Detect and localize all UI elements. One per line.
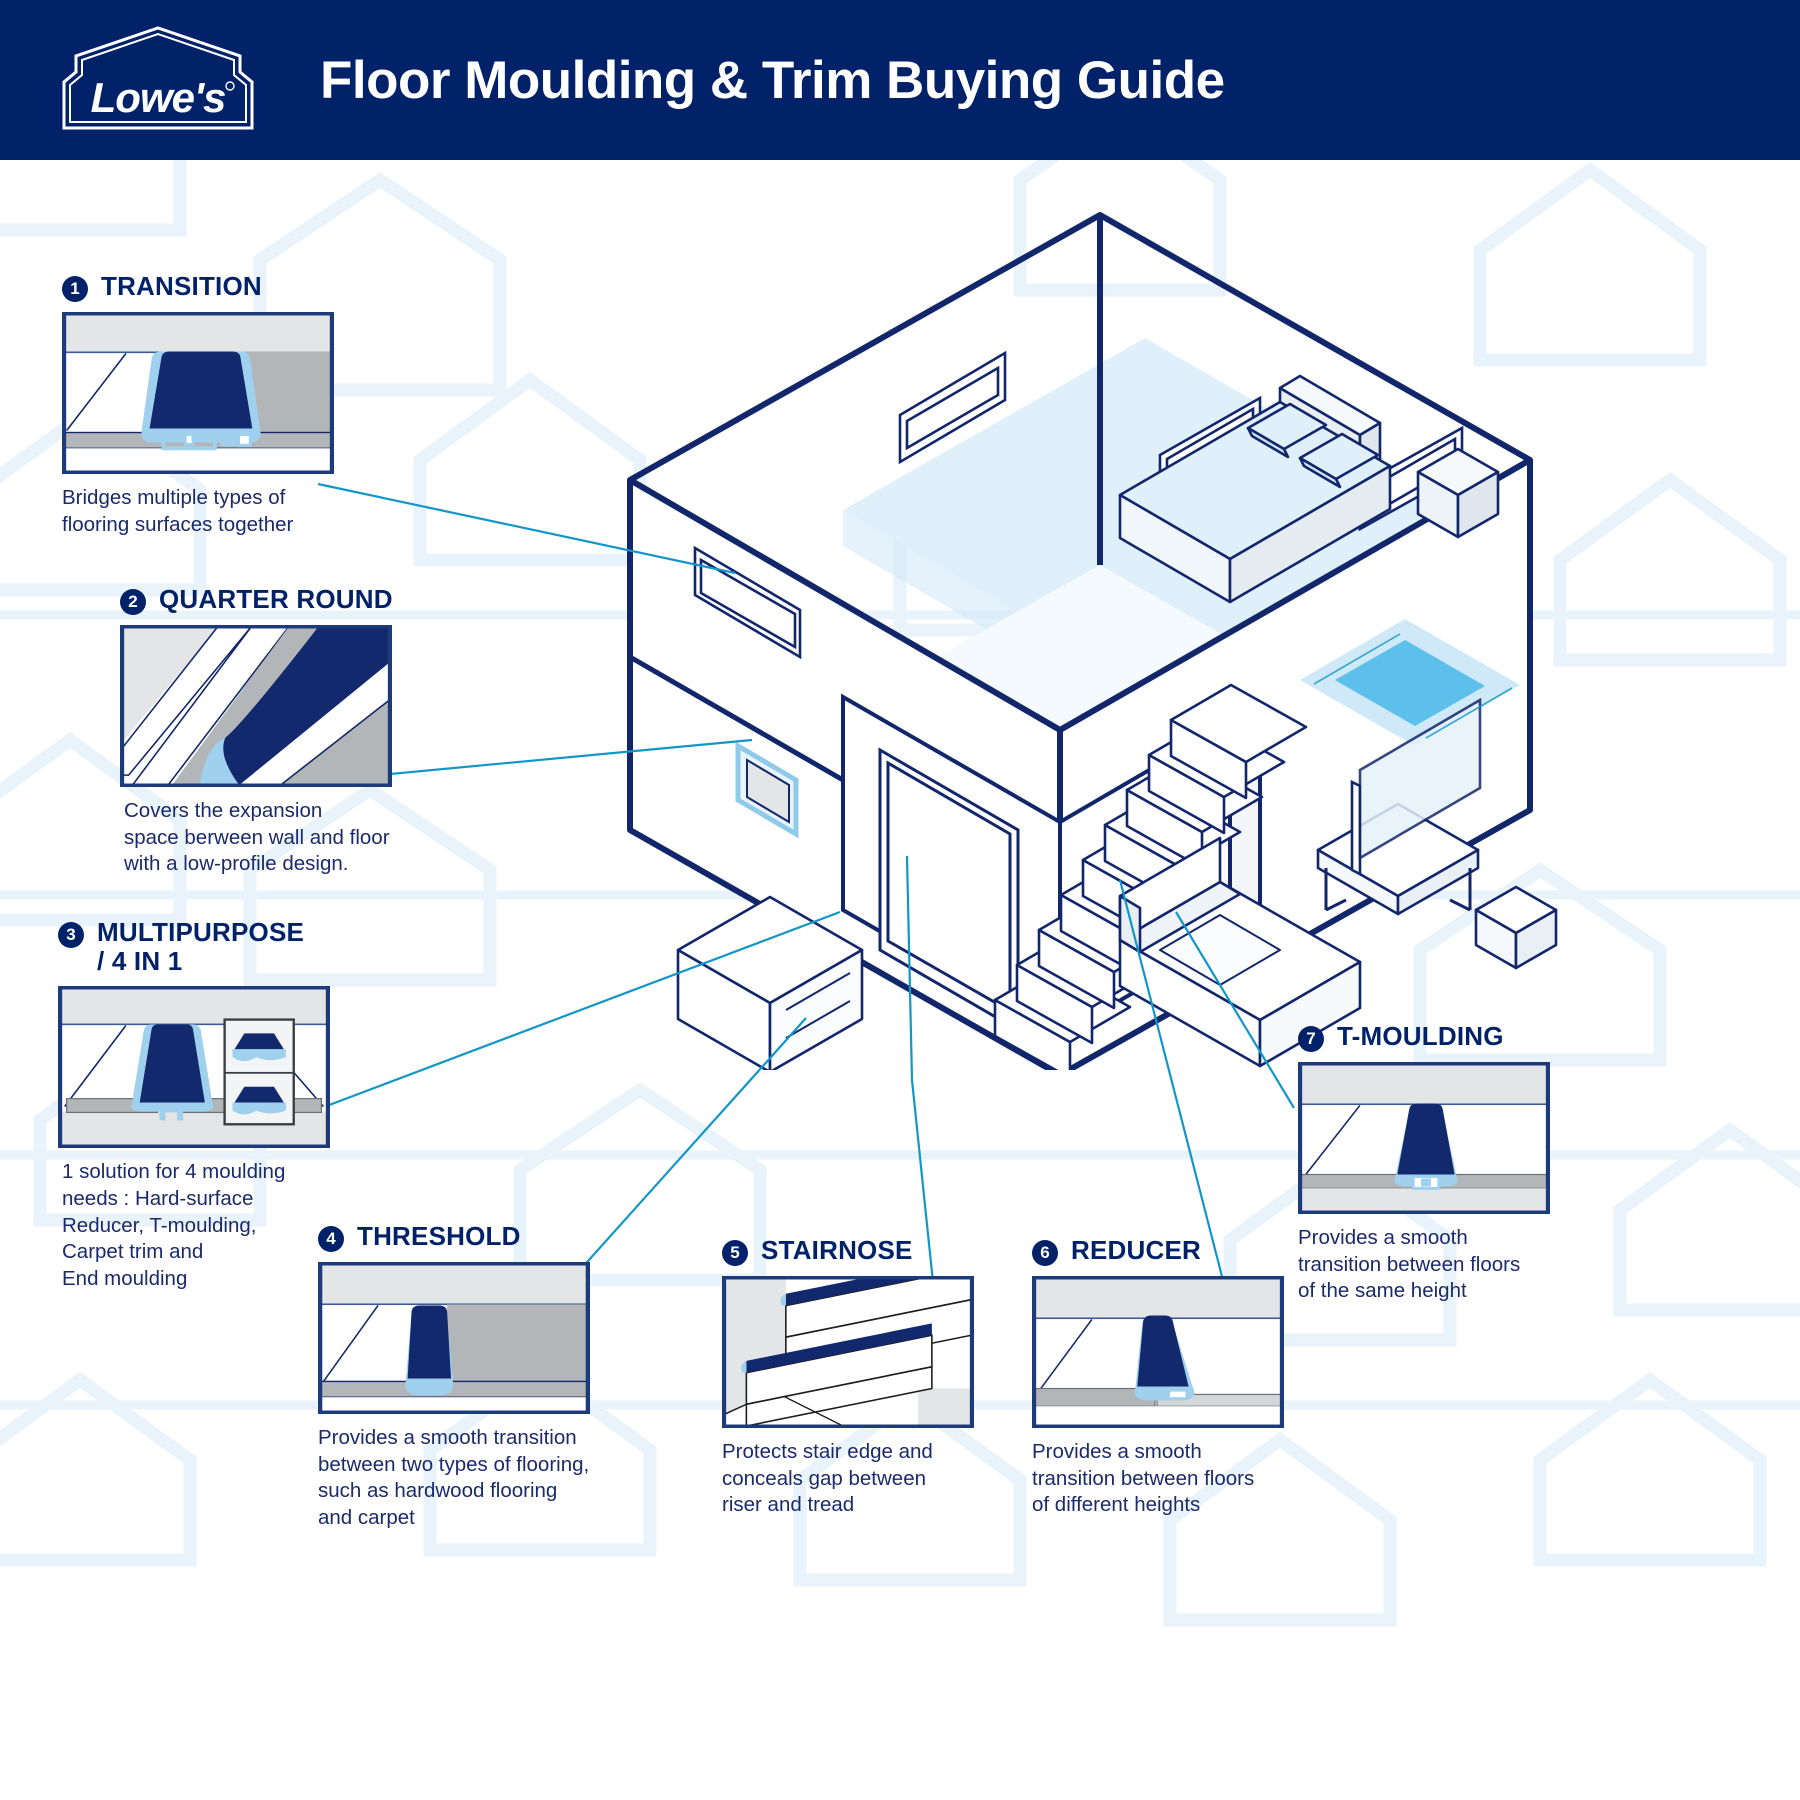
callout-description: Covers the expansion space berween wall … [124, 798, 460, 878]
ottoman [1476, 887, 1556, 968]
lowes-logo: Lowe's [58, 24, 258, 136]
callout-header: 4 THRESHOLD [318, 1222, 668, 1252]
callout-title: TRANSITION [101, 272, 262, 301]
callout-title: MULTIPURPOSE / 4 IN 1 [97, 918, 304, 976]
callout-quarter-round: 2 QUARTER ROUND Covers the expansion spa… [120, 585, 460, 878]
transition-profile-thumb [62, 312, 334, 474]
lowes-logo-icon: Lowe's [58, 24, 258, 136]
callout-stairnose: 5 STAIRNOSE Protects stair edge and conc… [722, 1236, 972, 1519]
callout-number-badge: 5 [722, 1240, 748, 1266]
callout-t-moulding: 7 T-MOULDING Provides a smooth transitio… [1298, 1022, 1566, 1305]
callout-threshold: 4 THRESHOLD Provides a smooth transition… [318, 1222, 668, 1532]
callout-header: 5 STAIRNOSE [722, 1236, 972, 1266]
callout-number-badge: 2 [120, 589, 146, 615]
page-title: Floor Moulding & Trim Buying Guide [320, 50, 1225, 111]
page-header: Lowe's Floor Moulding & Trim Buying Guid… [0, 0, 1800, 160]
isometric-house-illustration [600, 210, 1560, 1070]
callout-header: 3 MULTIPURPOSE / 4 IN 1 [58, 918, 408, 976]
reducer-profile-thumb [1032, 1276, 1284, 1428]
quarter-round-profile-thumb [120, 625, 392, 787]
callout-number-badge: 4 [318, 1226, 344, 1252]
stairnose-profile-thumb [722, 1276, 974, 1428]
callout-title: REDUCER [1071, 1236, 1201, 1265]
callout-title: STAIRNOSE [761, 1236, 913, 1265]
callout-number-badge: 6 [1032, 1240, 1058, 1266]
callout-header: 1 TRANSITION [62, 272, 392, 302]
callout-number-badge: 1 [62, 276, 88, 302]
callout-transition: 1 TRANSITION Bridges multiple types of f… [62, 272, 392, 538]
infographic-page: Lowe's Floor Moulding & Trim Buying Guid… [0, 0, 1800, 1800]
callout-header: 6 REDUCER [1032, 1236, 1300, 1266]
callout-header: 2 QUARTER ROUND [120, 585, 460, 615]
callout-description: Protects stair edge and conceals gap bet… [722, 1439, 972, 1519]
threshold-profile-thumb [318, 1262, 590, 1414]
callout-description: Provides a smooth transition between two… [318, 1425, 668, 1532]
callout-header: 7 T-MOULDING [1298, 1022, 1566, 1052]
callout-title: QUARTER ROUND [159, 585, 393, 614]
callout-description: Provides a smooth transition between flo… [1298, 1225, 1566, 1305]
callout-description: Bridges multiple types of flooring surfa… [62, 485, 392, 538]
callout-number-badge: 7 [1298, 1026, 1324, 1052]
callout-title: THRESHOLD [357, 1222, 521, 1251]
callout-description: Provides a smooth transition between flo… [1032, 1439, 1300, 1519]
callout-number-badge: 3 [58, 922, 84, 948]
callout-title: T-MOULDING [1337, 1022, 1504, 1051]
svg-text:Lowe's: Lowe's [91, 74, 226, 121]
t-moulding-profile-thumb [1298, 1062, 1550, 1214]
callout-reducer: 6 REDUCER Provides a smooth transition b… [1032, 1236, 1300, 1519]
multipurpose-profile-thumb [58, 986, 330, 1148]
